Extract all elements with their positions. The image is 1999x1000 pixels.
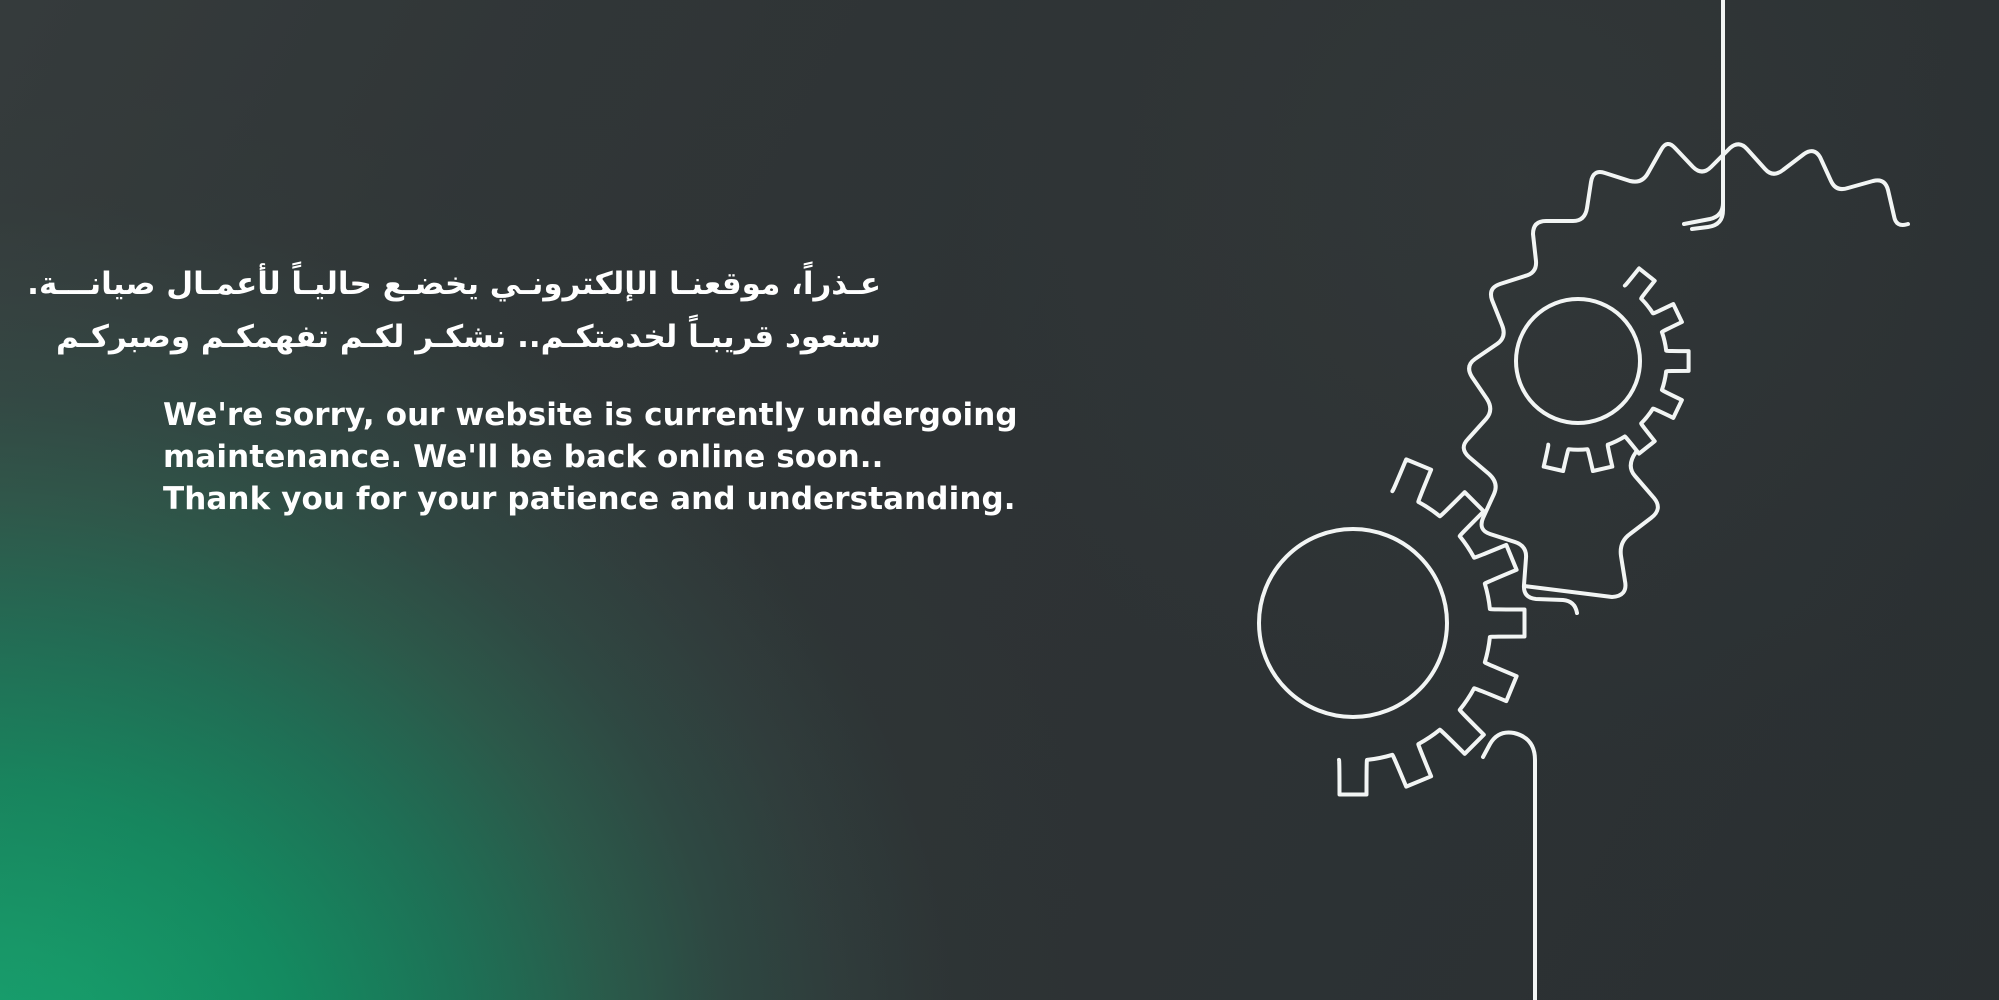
english-line-1: We're sorry, our website is currently un… — [163, 394, 1123, 436]
message-content: عـذراً، موقعنـا الإلكترونـي يخضـع حاليـا… — [163, 258, 1123, 520]
arabic-line-2: سنعود قريبـاً لخدمتكـم.. نشكـر لكـم تفهم… — [163, 311, 881, 364]
maintenance-page: عـذراً، موقعنـا الإلكترونـي يخضـع حاليـا… — [0, 0, 1999, 1000]
english-line-3: Thank you for your patience and understa… — [163, 478, 1123, 520]
arabic-message: عـذراً، موقعنـا الإلكترونـي يخضـع حاليـا… — [163, 258, 881, 364]
english-line-2: maintenance. We'll be back online soon.. — [163, 436, 1123, 478]
english-message: We're sorry, our website is currently un… — [163, 394, 1123, 520]
arabic-line-1: عـذراً، موقعنـا الإلكترونـي يخضـع حاليـا… — [163, 258, 881, 311]
